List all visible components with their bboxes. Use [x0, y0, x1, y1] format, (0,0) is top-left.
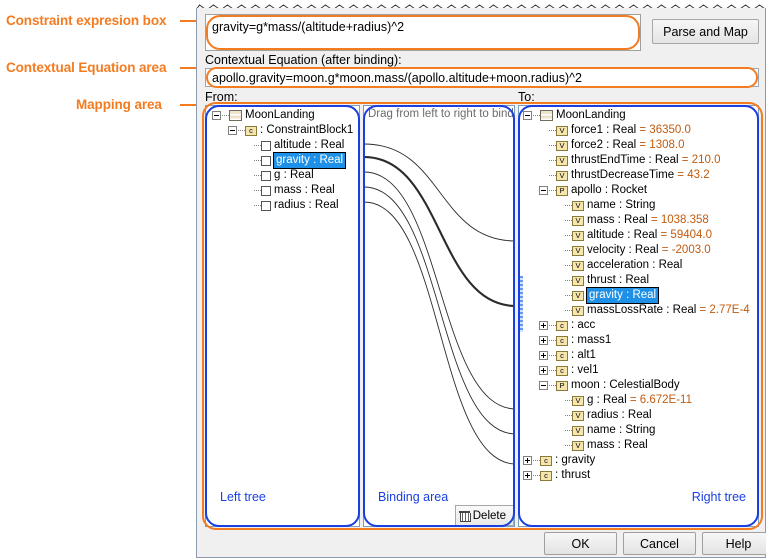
trash-icon — [460, 511, 469, 521]
from-label: From: — [205, 90, 238, 104]
c-type-icon: c — [245, 126, 257, 136]
tree-node[interactable]: Vthrust : Real — [519, 273, 758, 288]
tree-connector — [254, 160, 261, 161]
parse-and-map-button[interactable]: Parse and Map — [652, 19, 759, 44]
property-checkbox-icon — [261, 141, 271, 151]
property-checkbox-icon — [261, 186, 271, 196]
delete-button-label: Delete — [473, 510, 506, 522]
tree-node[interactable]: c : acc — [519, 318, 758, 333]
tree-connector — [549, 175, 556, 176]
contextual-equation-label: Contextual Equation (after binding): — [205, 53, 402, 67]
tree-node-label: acceleration : Real — [587, 258, 682, 273]
tree-node[interactable]: c : thrust — [519, 468, 758, 483]
constraint-mapping-dialog: gravity=g*mass/(altitude+radius)^2 Parse… — [196, 8, 766, 558]
expand-icon[interactable] — [539, 366, 548, 375]
tree-connector — [565, 400, 572, 401]
tree-connector — [549, 355, 556, 356]
tree-connector — [549, 340, 556, 341]
tree-node[interactable]: c : alt1 — [519, 348, 758, 363]
tree-node-value: = 36350.0 — [636, 124, 691, 136]
tree-node-label: : thrust — [555, 468, 590, 483]
help-button[interactable]: Help — [702, 532, 766, 555]
tree-connector — [533, 460, 540, 461]
tree-node-label: : mass1 — [571, 333, 611, 348]
left-tree[interactable]: MoonLandingc : ConstraintBlock1altitude … — [206, 106, 359, 213]
tree-node-label: velocity : Real = -2003.0 — [587, 243, 711, 258]
tree-node-label: mass : Real — [587, 438, 648, 453]
tree-node[interactable]: radius : Real — [206, 198, 359, 213]
model-icon — [540, 110, 553, 121]
tree-node-label: radius : Real — [587, 408, 652, 423]
v-type-icon: V — [556, 156, 568, 166]
c-type-icon: c — [556, 336, 568, 346]
collapse-icon[interactable] — [539, 381, 548, 390]
tree-connector — [549, 160, 556, 161]
binding-curve[interactable] — [364, 172, 515, 409]
tree-connector — [222, 115, 229, 116]
right-tree[interactable]: MoonLandingVforce1 : Real = 36350.0Vforc… — [519, 106, 758, 483]
annotation-contextual-equation-area: Contextual Equation area — [6, 60, 166, 75]
p-type-icon: P — [556, 186, 568, 196]
expand-icon[interactable] — [539, 336, 548, 345]
tree-connector — [565, 205, 572, 206]
tree-node[interactable]: Vname : String — [519, 423, 758, 438]
c-type-icon: c — [540, 456, 552, 466]
tree-node-label: gravity : Real — [274, 153, 345, 168]
constraint-expression-input[interactable]: gravity=g*mass/(altitude+radius)^2 — [205, 14, 641, 51]
v-type-icon: V — [556, 141, 568, 151]
ok-button[interactable]: OK — [544, 532, 617, 555]
v-type-icon: V — [572, 396, 584, 406]
tree-node[interactable]: Pmoon : CelestialBody — [519, 378, 758, 393]
tree-node-value: = 6.672E-11 — [627, 394, 692, 406]
tree-node[interactable]: Valtitude : Real = 59404.0 — [519, 228, 758, 243]
tree-node[interactable]: Vradius : Real — [519, 408, 758, 423]
tree-connector — [254, 145, 261, 146]
tree-node[interactable]: c : vel1 — [519, 363, 758, 378]
binding-area-panel[interactable]: Drag from left to right to bind. Binding… — [363, 105, 515, 527]
tree-node-value: = 2.77E-4 — [696, 304, 749, 316]
tree-connector — [565, 415, 572, 416]
v-type-icon: V — [572, 441, 584, 451]
tree-node-label: : vel1 — [571, 363, 599, 378]
tree-connector — [549, 370, 556, 371]
tree-node-label: thrustEndTime : Real = 210.0 — [571, 153, 720, 168]
tree-node[interactable]: gravity : Real — [206, 153, 359, 168]
tree-node[interactable]: Vmass : Real — [519, 438, 758, 453]
to-label: To: — [518, 90, 535, 104]
tree-connector — [565, 430, 572, 431]
tree-node[interactable]: VmassLossRate : Real = 2.77E-4 — [519, 303, 758, 318]
expand-icon[interactable] — [523, 471, 532, 480]
tree-node-value: = 1038.358 — [648, 214, 709, 226]
tree-connector — [565, 220, 572, 221]
right-tree-area-label: Right tree — [692, 490, 746, 504]
tree-node-label: massLossRate : Real = 2.77E-4 — [587, 303, 750, 318]
v-type-icon: V — [572, 276, 584, 286]
delete-binding-button[interactable]: Delete — [455, 505, 514, 526]
tree-node-label: gravity : Real — [587, 288, 658, 303]
tree-node-value: = -2003.0 — [659, 244, 711, 256]
tree-node-label: MoonLanding — [556, 108, 626, 123]
tree-connector — [565, 445, 572, 446]
tree-node-label: moon : CelestialBody — [571, 378, 680, 393]
collapse-icon[interactable] — [212, 111, 221, 120]
tree-node-label: mass : Real = 1038.358 — [587, 213, 709, 228]
v-type-icon: V — [572, 231, 584, 241]
v-type-icon: V — [556, 126, 568, 136]
tree-node-label: radius : Real — [274, 198, 339, 213]
tree-connector — [254, 175, 261, 176]
tree-node-label: : acc — [571, 318, 595, 333]
tree-connector — [565, 265, 572, 266]
tree-node-label: name : String — [587, 198, 655, 213]
tree-node[interactable]: MoonLanding — [519, 108, 758, 123]
tree-node[interactable]: VthrustDecreaseTime = 43.2 — [519, 168, 758, 183]
expand-icon[interactable] — [523, 456, 532, 465]
tree-node[interactable]: Vg : Real = 6.672E-11 — [519, 393, 758, 408]
tree-node-value: = 43.2 — [674, 169, 710, 181]
tree-connector — [533, 115, 540, 116]
tree-connector — [565, 235, 572, 236]
v-type-icon: V — [572, 291, 584, 301]
tree-node[interactable]: c : mass1 — [519, 333, 758, 348]
tree-node[interactable]: c : gravity — [519, 453, 758, 468]
v-type-icon: V — [572, 306, 584, 316]
tree-node[interactable]: Vname : String — [519, 198, 758, 213]
tree-node-label: mass : Real — [274, 183, 335, 198]
tree-node[interactable]: Vacceleration : Real — [519, 258, 758, 273]
expand-icon[interactable] — [539, 321, 548, 330]
property-checkbox-icon — [261, 156, 271, 166]
tree-connector — [549, 325, 556, 326]
tree-node[interactable]: MoonLanding — [206, 108, 359, 123]
tree-node[interactable]: Vforce2 : Real = 1308.0 — [519, 138, 758, 153]
v-type-icon: V — [572, 246, 584, 256]
tree-node[interactable]: Vmass : Real = 1038.358 — [519, 213, 758, 228]
c-type-icon: c — [556, 366, 568, 376]
tree-connector — [549, 190, 556, 191]
tree-node[interactable]: g : Real — [206, 168, 359, 183]
tree-node[interactable]: VthrustEndTime : Real = 210.0 — [519, 153, 758, 168]
binding-curve[interactable] — [364, 187, 515, 434]
tree-connector — [565, 280, 572, 281]
tree-node-label: MoonLanding — [245, 108, 315, 123]
tree-connector — [254, 205, 261, 206]
model-icon — [229, 110, 242, 121]
tree-node-label: thrustDecreaseTime = 43.2 — [571, 168, 710, 183]
tree-connector — [549, 385, 556, 386]
binding-area-label: Binding area — [378, 490, 448, 504]
tree-connector — [549, 130, 556, 131]
tree-node[interactable]: Vgravity : Real — [519, 288, 758, 303]
tree-node-label: g : Real — [274, 168, 314, 183]
collapse-icon[interactable] — [228, 126, 237, 135]
tree-node-label: force2 : Real = 1308.0 — [571, 138, 684, 153]
collapse-icon[interactable] — [523, 111, 532, 120]
v-type-icon: V — [572, 216, 584, 226]
tree-node-label: thrust : Real — [587, 273, 649, 288]
contextual-equation-value: apollo.gravity=moon.g*moon.mass/(apollo.… — [205, 68, 759, 87]
tree-node-value: = 210.0 — [679, 154, 721, 166]
tree-node-label: name : String — [587, 423, 655, 438]
expression-row: gravity=g*mass/(altitude+radius)^2 Parse… — [205, 14, 759, 52]
tree-node-label: altitude : Real = 59404.0 — [587, 228, 712, 243]
c-type-icon: c — [556, 321, 568, 331]
annotation-mapping-area: Mapping area — [76, 97, 162, 112]
annotation-constraint-expression-box: Constraint expresion box — [6, 13, 166, 28]
collapse-icon[interactable] — [539, 186, 548, 195]
tree-connector — [238, 130, 245, 131]
v-type-icon: V — [572, 201, 584, 211]
v-type-icon: V — [572, 411, 584, 421]
tree-node[interactable]: c : ConstraintBlock1 — [206, 123, 359, 138]
tree-node[interactable]: Papollo : Rocket — [519, 183, 758, 198]
tree-connector — [254, 190, 261, 191]
tree-node[interactable]: altitude : Real — [206, 138, 359, 153]
tree-node[interactable]: mass : Real — [206, 183, 359, 198]
expand-icon[interactable] — [539, 351, 548, 360]
tree-node-label: g : Real = 6.672E-11 — [587, 393, 692, 408]
tree-node-label: apollo : Rocket — [571, 183, 647, 198]
c-type-icon: c — [556, 351, 568, 361]
binding-curves — [364, 106, 515, 527]
tree-node-label: : ConstraintBlock1 — [260, 123, 353, 138]
property-checkbox-icon — [261, 171, 271, 181]
cancel-button[interactable]: Cancel — [623, 532, 696, 555]
tree-connector — [533, 475, 540, 476]
tree-connector — [565, 295, 572, 296]
p-type-icon: P — [556, 381, 568, 391]
left-tree-panel[interactable]: MoonLandingc : ConstraintBlock1altitude … — [205, 105, 360, 527]
tree-connector — [549, 145, 556, 146]
tree-node-label: altitude : Real — [274, 138, 344, 153]
binding-curve[interactable] — [364, 144, 515, 241]
right-tree-panel[interactable]: MoonLandingVforce1 : Real = 36350.0Vforc… — [518, 105, 759, 527]
tree-connector — [565, 310, 572, 311]
c-type-icon: c — [540, 471, 552, 481]
tree-node-label: : gravity — [555, 453, 595, 468]
property-checkbox-icon — [261, 201, 271, 211]
tree-node-value: = 1308.0 — [636, 139, 684, 151]
tree-node[interactable]: Vvelocity : Real = -2003.0 — [519, 243, 758, 258]
tree-node[interactable]: Vforce1 : Real = 36350.0 — [519, 123, 758, 138]
v-type-icon: V — [572, 261, 584, 271]
tree-node-label: force1 : Real = 36350.0 — [571, 123, 691, 138]
tree-connector — [565, 250, 572, 251]
tree-node-label: : alt1 — [571, 348, 596, 363]
v-type-icon: V — [572, 426, 584, 436]
left-tree-area-label: Left tree — [220, 490, 266, 504]
tree-node-value: = 59404.0 — [657, 229, 712, 241]
v-type-icon: V — [556, 171, 568, 181]
